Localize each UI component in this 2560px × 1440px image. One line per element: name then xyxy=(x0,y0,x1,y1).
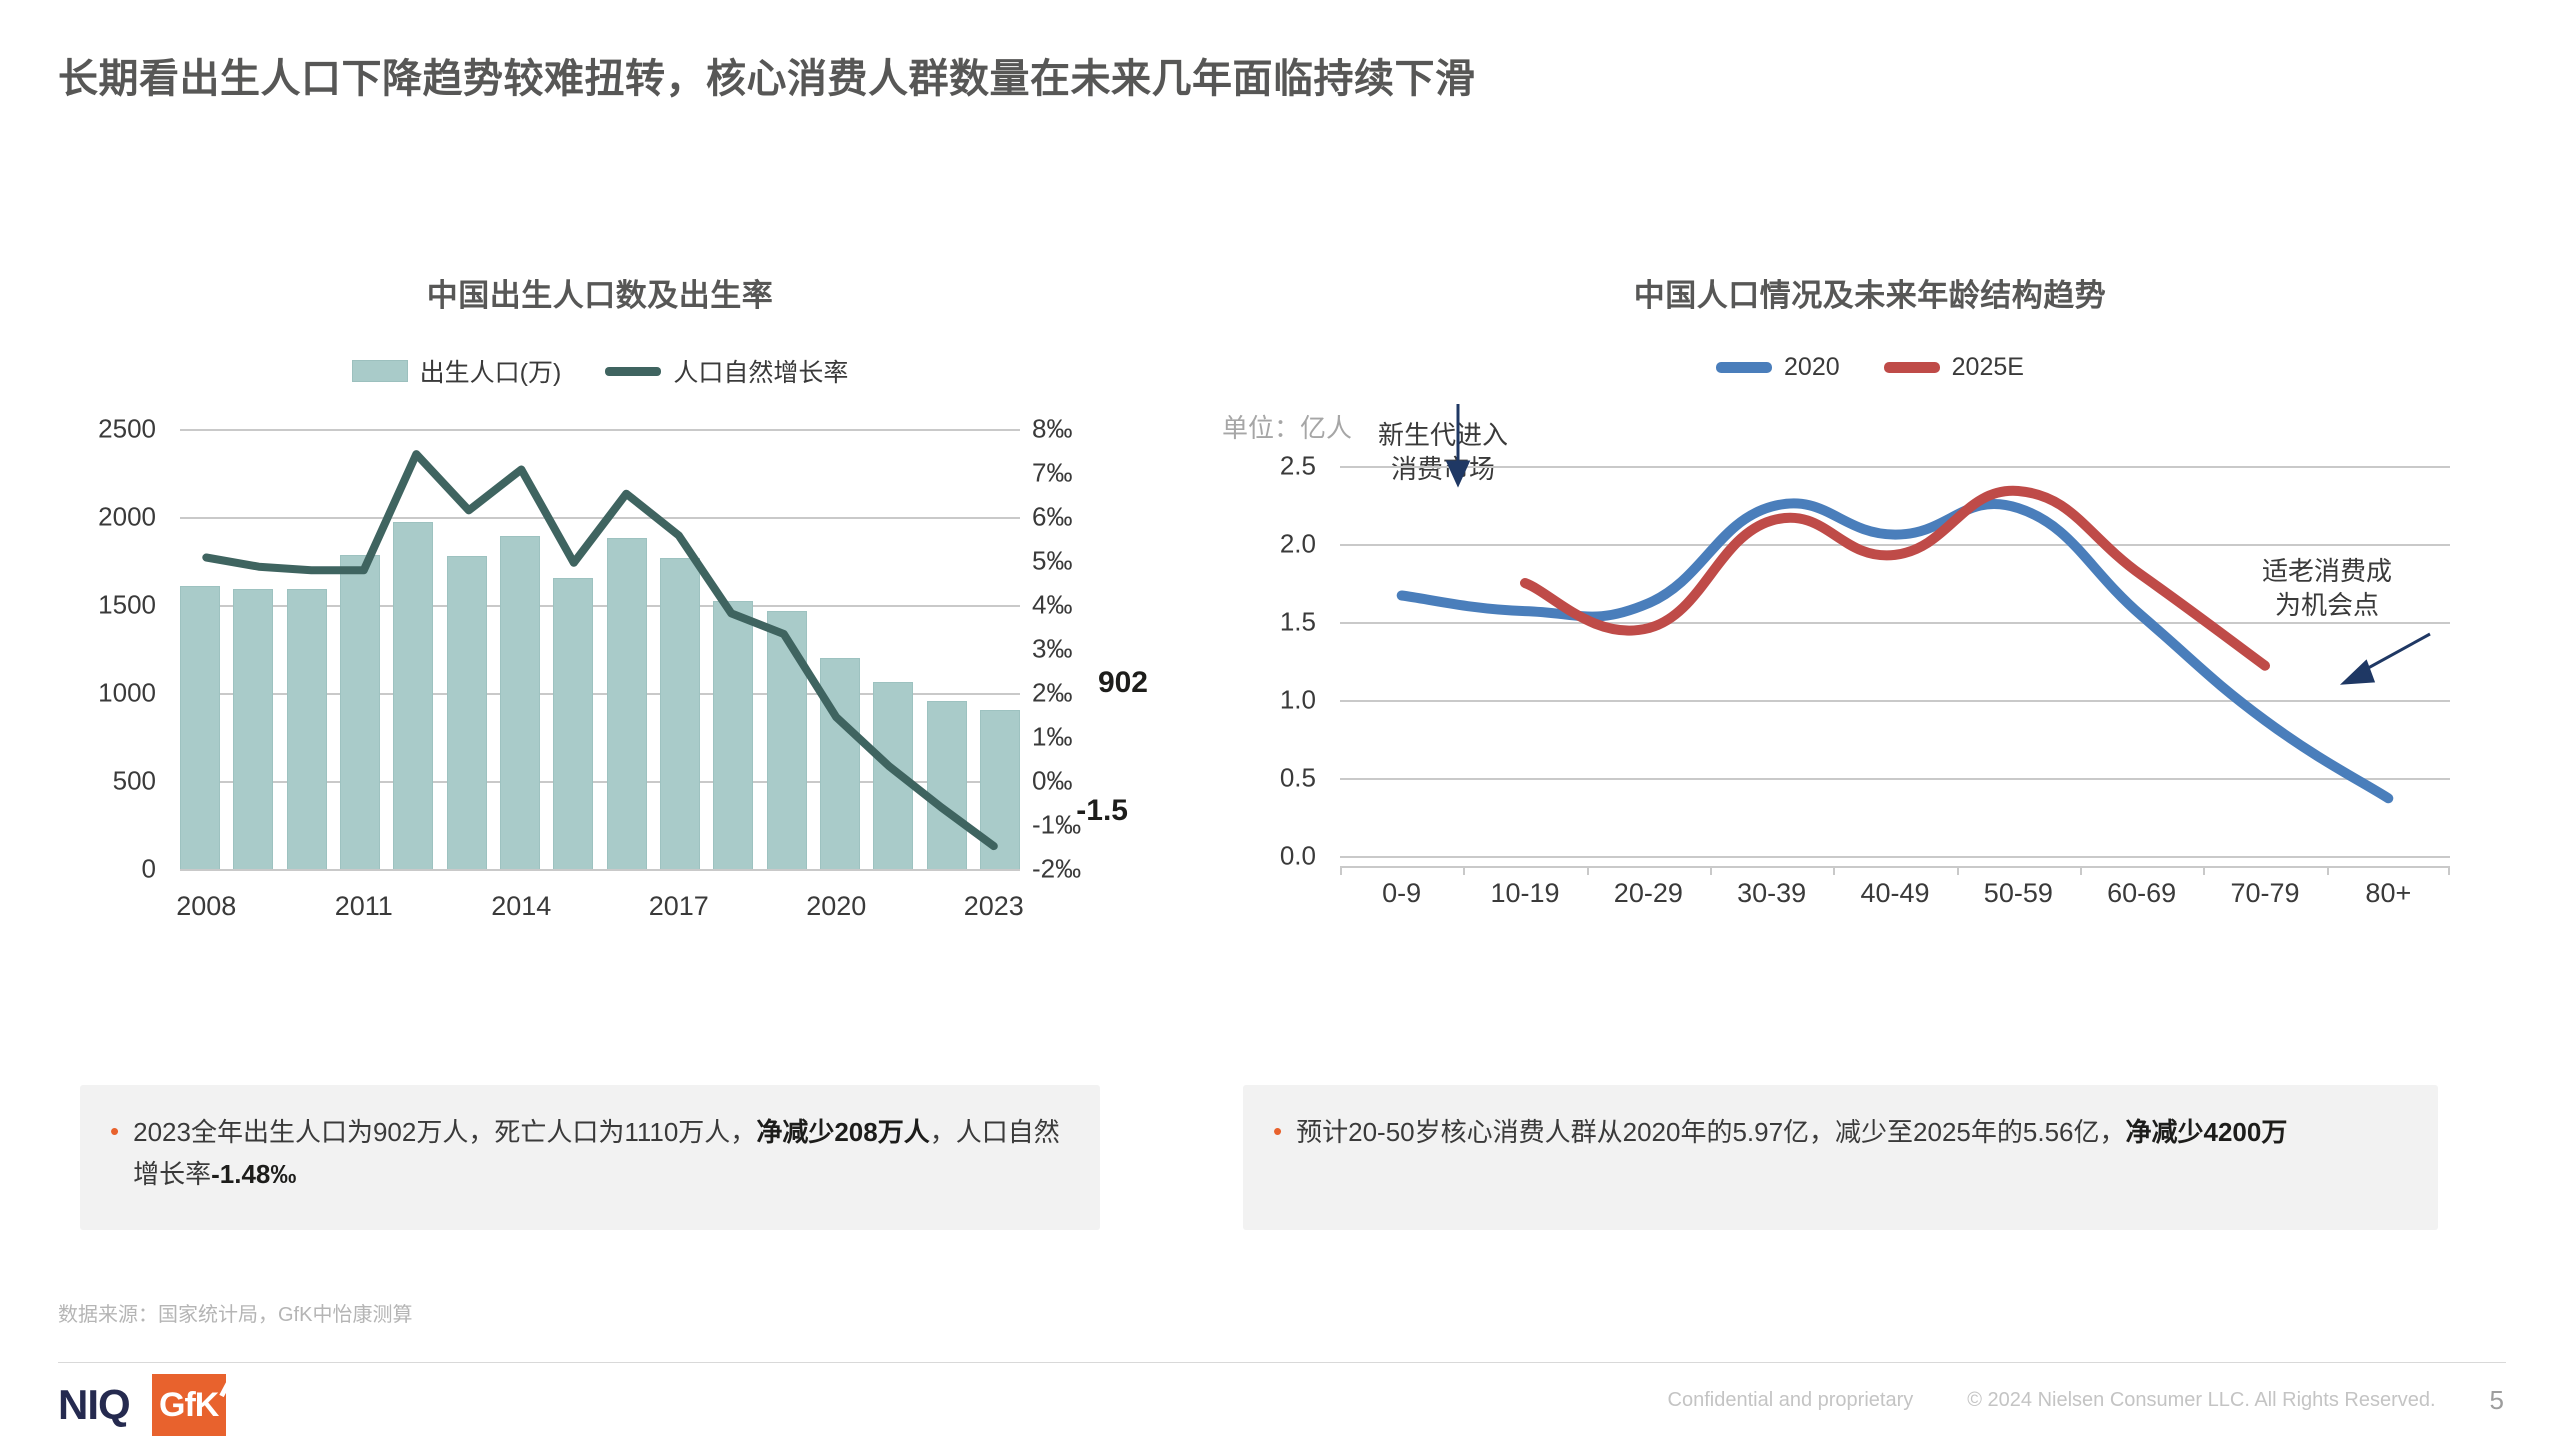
x-axis-tick-mark xyxy=(1587,866,1589,875)
right-chart-plot xyxy=(1340,466,2450,856)
confidential-label: Confidential and proprietary xyxy=(1668,1389,1914,1412)
right-note-text: 预计20-50岁核心消费人群从2020年的5.97亿，减少至2025年的5.56… xyxy=(1296,1111,2287,1153)
source-note: 数据来源：国家统计局，GfK中怡康测算 xyxy=(58,1298,412,1327)
footer-divider xyxy=(58,1362,2506,1363)
annotation-new-generation-line1: 新生代进入 xyxy=(1378,418,1508,452)
y2-axis-tick-label: 5‰ xyxy=(1032,546,1072,577)
y2-axis-tick-label: 3‰ xyxy=(1032,634,1072,665)
x-axis-line xyxy=(1340,866,2450,868)
left-chart-y-axis: 05001000150020002500 xyxy=(60,415,168,883)
y-axis-tick-label: 0 xyxy=(142,854,156,885)
y2-axis-tick-label: 2‰ xyxy=(1032,678,1072,709)
left-chart-area: 05001000150020002500 -2‰-1‰0‰1‰2‰3‰4‰5‰6… xyxy=(60,415,1140,915)
x-axis-tick-label: 20-29 xyxy=(1614,878,1683,909)
y-axis-tick-label: 1.0 xyxy=(1280,685,1316,716)
left-note-box: • 2023全年出生人口为902万人，死亡人口为1110万人，净减少208万人，… xyxy=(80,1085,1100,1230)
gfk-logo: GfK xyxy=(152,1374,226,1436)
x-axis-tick-mark xyxy=(2080,866,2082,875)
left-chart-plot: 902-1.5 xyxy=(180,429,1020,869)
left-chart-x-axis: 200820112014201720202023 xyxy=(180,885,1020,925)
copyright-label: © 2024 Nielsen Consumer LLC. All Rights … xyxy=(1967,1389,2435,1412)
gfk-logo-text: GfK xyxy=(159,1388,218,1422)
y2-axis-tick-label: 4‰ xyxy=(1032,590,1072,621)
line-2025E[interactable] xyxy=(1525,491,2265,666)
x-axis-tick-label: 10-19 xyxy=(1490,878,1559,909)
growth-rate-line-series xyxy=(180,429,1020,869)
legend-swatch-2025e-icon xyxy=(1884,362,1940,373)
x-axis-tick-label: 2014 xyxy=(491,891,551,922)
x-axis-tick-label: 2008 xyxy=(176,891,236,922)
right-chart-title: 中国人口情况及未来年龄结构趋势 xyxy=(1220,270,2520,315)
left-note-bullet-icon: • xyxy=(110,1111,119,1195)
legend-item-2020[interactable]: 2020 xyxy=(1716,353,1840,382)
x-axis-tick-label: 60-69 xyxy=(2107,878,2176,909)
legend-swatch-bar-icon xyxy=(352,360,408,382)
legend-item-growth-rate[interactable]: 人口自然增长率 xyxy=(605,353,848,389)
gridline xyxy=(180,869,1020,871)
y2-axis-tick-label: 6‰ xyxy=(1032,502,1072,533)
note-emphasis: -1.48‰ xyxy=(211,1159,296,1189)
right-chart-panel: 中国人口情况及未来年龄结构趋势 2020 2025E 单位：亿人 新生代进入 消… xyxy=(1220,270,2520,924)
x-axis-tick-mark xyxy=(1340,866,1342,875)
y-axis-tick-label: 0.0 xyxy=(1280,841,1316,872)
footer-meta: Confidential and proprietary © 2024 Niel… xyxy=(1668,1385,2504,1416)
y-axis-tick-label: 2.5 xyxy=(1280,451,1316,482)
right-chart-legend: 2020 2025E xyxy=(1220,353,2520,382)
y2-axis-tick-label: 7‰ xyxy=(1032,458,1072,489)
legend-swatch-2020-icon xyxy=(1716,362,1772,373)
x-axis-tick-label: 30-39 xyxy=(1737,878,1806,909)
y2-axis-tick-label: 1‰ xyxy=(1032,722,1072,753)
legend-label-births: 出生人口(万) xyxy=(420,353,562,389)
note-span: 2023全年出生人口为902万人，死亡人口为1110万人， xyxy=(133,1117,756,1147)
y-axis-tick-label: 1500 xyxy=(98,590,156,621)
right-chart-x-axis: 0-910-1920-2930-3940-4950-5960-6970-7980… xyxy=(1340,866,2450,912)
x-axis-tick-mark xyxy=(1957,866,1959,875)
legend-label-2025e: 2025E xyxy=(1952,353,2024,382)
annotation-arrow-diagonal-icon xyxy=(2344,634,2430,683)
right-chart-area: 单位：亿人 新生代进入 消费市场 适老消费成 为机会点 0.00.51.01.5… xyxy=(1220,404,2520,924)
right-note-bullet-icon: • xyxy=(1273,1111,1282,1153)
page-number: 5 xyxy=(2490,1385,2504,1416)
x-axis-tick-label: 80+ xyxy=(2365,878,2411,909)
note-emphasis: 净减少4200万 xyxy=(2126,1117,2288,1147)
y-axis-tick-label: 500 xyxy=(113,766,156,797)
y-axis-tick-label: 1.5 xyxy=(1280,607,1316,638)
niq-logo: NIQ xyxy=(58,1384,130,1426)
x-axis-tick-label: 40-49 xyxy=(1860,878,1929,909)
data-label-births-2023: 902 xyxy=(1098,666,1148,700)
x-axis-tick-label: 2017 xyxy=(649,891,709,922)
y2-axis-tick-label: -2‰ xyxy=(1032,854,1081,885)
y-axis-tick-label: 2000 xyxy=(98,502,156,533)
page-title: 长期看出生人口下降趋势较难扭转，核心消费人群数量在未来几年面临持续下滑 xyxy=(58,46,1476,104)
y-axis-tick-label: 2500 xyxy=(98,414,156,445)
x-axis-tick-mark xyxy=(2327,866,2329,875)
footer-logos: NIQ GfK xyxy=(58,1374,226,1436)
age-structure-line-series xyxy=(1340,466,2450,856)
x-axis-tick-label: 2023 xyxy=(964,891,1024,922)
left-chart-panel: 中国出生人口数及出生率 出生人口(万) 人口自然增长率 050010001500… xyxy=(60,270,1140,915)
note-span: 预计20-50岁核心消费人群从2020年的5.97亿，减少至2025年的5.56… xyxy=(1296,1117,2125,1147)
y2-axis-tick-label: 0‰ xyxy=(1032,766,1072,797)
y-axis-tick-label: 1000 xyxy=(98,678,156,709)
y2-axis-tick-label: 8‰ xyxy=(1032,414,1072,445)
x-axis-tick-mark xyxy=(1710,866,1712,875)
y-axis-tick-label: 0.5 xyxy=(1280,763,1316,794)
note-emphasis: 净减少208万人 xyxy=(756,1117,929,1147)
left-chart-title: 中国出生人口数及出生率 xyxy=(60,270,1140,315)
legend-item-births[interactable]: 出生人口(万) xyxy=(352,353,562,389)
left-note-text: 2023全年出生人口为902万人，死亡人口为1110万人，净减少208万人，人口… xyxy=(133,1111,1066,1195)
left-chart-legend: 出生人口(万) 人口自然增长率 xyxy=(60,353,1140,389)
x-axis-tick-label: 2020 xyxy=(806,891,866,922)
legend-label-growth-rate: 人口自然增长率 xyxy=(673,353,848,389)
x-axis-tick-mark xyxy=(2448,866,2450,875)
x-axis-tick-mark xyxy=(2203,866,2205,875)
y-axis-tick-label: 2.0 xyxy=(1280,529,1316,560)
slide: 长期看出生人口下降趋势较难扭转，核心消费人群数量在未来几年面临持续下滑 中国出生… xyxy=(0,0,2560,1440)
legend-swatch-line-icon xyxy=(605,367,661,376)
x-axis-tick-label: 2011 xyxy=(335,891,393,922)
x-axis-tick-label: 50-59 xyxy=(1984,878,2053,909)
x-axis-tick-mark xyxy=(1463,866,1465,875)
right-chart-y-axis: 0.00.51.01.52.02.5 xyxy=(1220,466,1328,856)
y2-axis-tick-label: -1‰ xyxy=(1032,810,1081,841)
x-axis-tick-label: 70-79 xyxy=(2230,878,2299,909)
x-axis-tick-mark xyxy=(1833,866,1835,875)
gridline xyxy=(1340,856,2450,858)
legend-label-2020: 2020 xyxy=(1784,353,1840,382)
right-note-box: • 预计20-50岁核心消费人群从2020年的5.97亿，减少至2025年的5.… xyxy=(1243,1085,2438,1230)
legend-item-2025e[interactable]: 2025E xyxy=(1884,353,2024,382)
right-chart-unit-label: 单位：亿人 xyxy=(1222,408,1352,445)
data-label-growth-rate-2023: -1.5 xyxy=(1076,794,1128,828)
x-axis-tick-label: 0-9 xyxy=(1382,878,1421,909)
